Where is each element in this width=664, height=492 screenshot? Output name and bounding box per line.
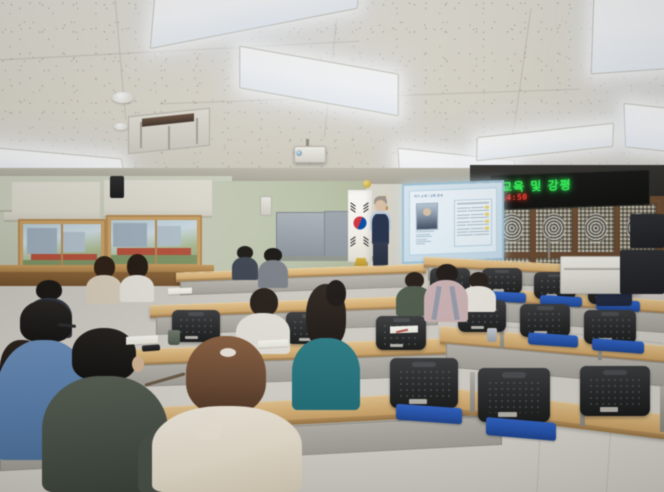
attendee-dark-hair-woman	[322, 280, 350, 320]
slide-photo-block	[416, 202, 450, 245]
presenter	[368, 196, 394, 270]
roller-blind[interactable]	[4, 182, 100, 222]
slide-portrait-photo	[416, 203, 438, 231]
paper-sheet[interactable]	[168, 288, 192, 295]
chair-back	[478, 368, 550, 422]
slide-title: 자기 소개 / 교육 안내	[414, 193, 443, 198]
wall-speaker-black	[110, 176, 124, 198]
torso	[292, 338, 360, 410]
projector-lens	[296, 150, 302, 156]
blind-edge	[0, 176, 12, 212]
chair[interactable]	[520, 304, 570, 337]
chair[interactable]	[478, 368, 550, 422]
chair[interactable]	[580, 366, 650, 416]
hair	[250, 288, 278, 316]
ac-support-rod	[168, 126, 170, 150]
slide-document-table	[454, 199, 492, 247]
equipment-cabinet-2	[630, 214, 664, 248]
hair-tie	[220, 348, 236, 357]
attendee-pink-top-woman	[424, 264, 468, 322]
ear	[132, 356, 144, 372]
attendee-beige-woman	[86, 256, 122, 304]
microphone-stand[interactable]	[548, 236, 550, 258]
attendee-grey-shirt-man	[258, 248, 288, 288]
smoke-detector	[114, 123, 128, 130]
torso	[120, 275, 154, 302]
desk-leg	[660, 386, 664, 432]
attendee-cream-blouse-woman	[152, 336, 302, 492]
torso	[152, 406, 302, 492]
wall-speaker-white	[260, 196, 272, 216]
attendee-white-top-woman	[120, 254, 154, 302]
ceiling-light-panel	[591, 0, 664, 74]
desk-leg	[470, 372, 475, 412]
ac-support-rod	[140, 122, 142, 148]
paper-sheet[interactable]	[126, 335, 158, 345]
lattice-cell	[577, 203, 615, 253]
hair	[326, 280, 346, 306]
taeguk-circle	[352, 215, 367, 230]
chair-back	[390, 358, 458, 408]
led-marquee-sign: 교육 및 강평 14:50	[490, 169, 650, 211]
chair[interactable]	[390, 358, 458, 408]
lecture-hall-photo: 교육 및 강평 14:50 자기 소개 / 교육 안내	[0, 0, 664, 492]
led-sign-time: 14:50	[501, 192, 528, 202]
flag-finial	[363, 180, 371, 188]
coffee-cup[interactable]	[168, 330, 180, 345]
ac-support-rod	[196, 118, 198, 144]
torso	[232, 257, 258, 280]
projection-screen: 자기 소개 / 교육 안내	[402, 180, 504, 264]
smoke-detector	[112, 92, 134, 103]
hair	[36, 280, 62, 300]
chair-back	[520, 304, 570, 337]
bottle[interactable]	[487, 328, 497, 342]
lattice-cell	[535, 203, 573, 253]
torso	[424, 280, 468, 322]
equipment-cabinet	[620, 250, 664, 294]
presentation-slide: 자기 소개 / 교육 안내	[409, 187, 497, 255]
attendee-olive-polo-man	[42, 328, 168, 492]
torso	[258, 260, 288, 288]
chair-back	[580, 366, 650, 416]
presenter-vest	[372, 214, 389, 244]
mobile-phone[interactable]	[142, 344, 160, 351]
blouse-bow	[196, 410, 222, 440]
attendee-back-left-man	[232, 246, 258, 280]
